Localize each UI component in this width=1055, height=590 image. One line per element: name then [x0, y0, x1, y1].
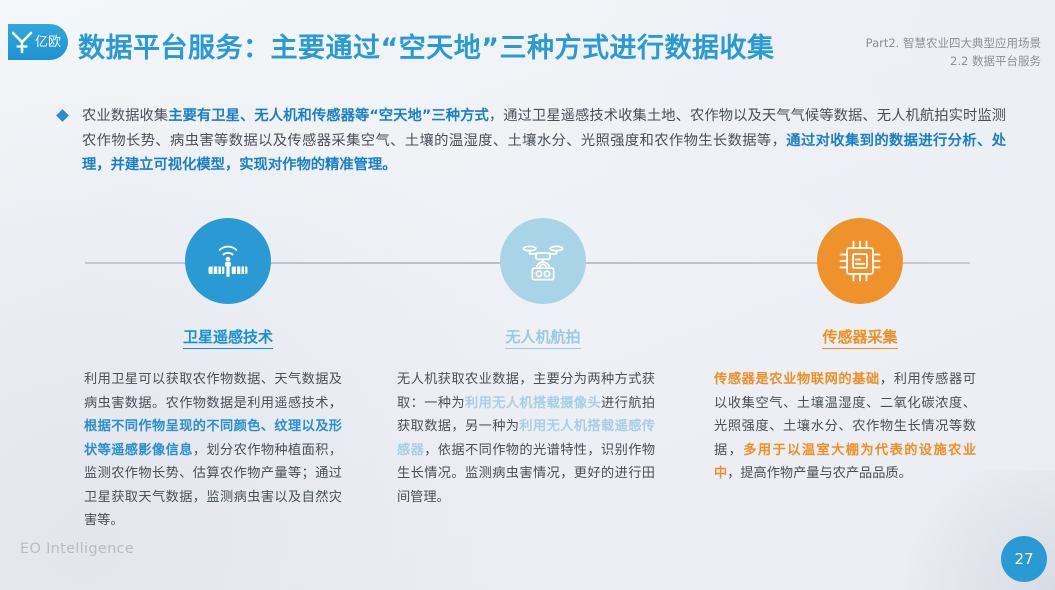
column-title-drone-text: 无人机航拍	[505, 328, 580, 349]
column-body-satellite: 利用卫星可以获取农作物数据、天气数据及病虫害数据。农作物数据是利用遥感技术，根据…	[84, 368, 342, 533]
column-title-satellite: 卫星遥感技术	[78, 326, 378, 347]
column-title-satellite-text: 卫星遥感技术	[183, 328, 273, 349]
brand-logo-text: 亿欧	[35, 36, 61, 49]
column-title-sensor: 传感器采集	[710, 326, 1010, 347]
diamond-bullet-icon	[56, 109, 69, 122]
intro-paragraph-block: 农业数据收集主要有卫星、无人机和传感器等“空天地”三种方式，通过卫星遥感技术收集…	[58, 104, 1006, 178]
column-satellite: 卫星遥感技术 利用卫星可以获取农作物数据、天气数据及病虫害数据。农作物数据是利用…	[78, 218, 378, 533]
column-title-sensor-text: 传感器采集	[822, 328, 897, 349]
page-number-badge: 27	[1001, 536, 1047, 582]
text-run: ，依据不同作物的光谱特性，识别作物生长情况。监测病虫害情况，更好的进行田间管理。	[397, 443, 655, 505]
text-run-highlight: 利用无人机搭载摄像头	[465, 396, 601, 411]
drone-icon	[500, 218, 586, 304]
section-label-line1: Part2. 智慧农业四大典型应用场景	[866, 34, 1041, 52]
text-run-highlight: 传感器是农业物联网的基础	[714, 372, 880, 387]
column-body-drone: 无人机获取农业数据，主要分为两种方式获取：一种为利用无人机搭载摄像头进行航拍获取…	[397, 368, 655, 509]
footer-brand: EO Intelligence	[20, 541, 134, 557]
intro-segment-plain-1: 农业数据收集	[82, 108, 168, 124]
chip-icon	[817, 218, 903, 304]
page-title: 数据平台服务：主要通过“空天地”三种方式进行数据收集	[78, 26, 775, 65]
yi-ou-logo-icon	[11, 30, 33, 54]
intro-segment-bold-1: 主要有卫星、无人机和传感器等“空天地”三种方式	[168, 108, 489, 124]
section-label: Part2. 智慧农业四大典型应用场景 2.2 数据平台服务	[866, 34, 1041, 71]
intro-paragraph: 农业数据收集主要有卫星、无人机和传感器等“空天地”三种方式，通过卫星遥感技术收集…	[82, 104, 1006, 178]
section-label-line2: 2.2 数据平台服务	[866, 52, 1041, 70]
satellite-icon	[185, 218, 271, 304]
slide-canvas: 亿欧 数据平台服务：主要通过“空天地”三种方式进行数据收集 Part2. 智慧农…	[0, 0, 1055, 590]
text-run: 利用卫星可以获取农作物数据、天气数据及病虫害数据。农作物数据是利用遥感技术，	[84, 372, 342, 411]
column-body-sensor: 传感器是农业物联网的基础，利用传感器可以收集空气、土壤温湿度、二氧化碳浓度、光照…	[714, 368, 976, 486]
column-sensor: 传感器采集 传感器是农业物联网的基础，利用传感器可以收集空气、土壤温湿度、二氧化…	[710, 218, 1010, 486]
column-title-drone: 无人机航拍	[393, 326, 693, 347]
brand-logo-badge: 亿欧	[8, 24, 68, 60]
column-drone: 无人机航拍 无人机获取农业数据，主要分为两种方式获取：一种为利用无人机搭载摄像头…	[393, 218, 693, 509]
text-run: ，提高作物产量与农产品品质。	[727, 466, 912, 481]
